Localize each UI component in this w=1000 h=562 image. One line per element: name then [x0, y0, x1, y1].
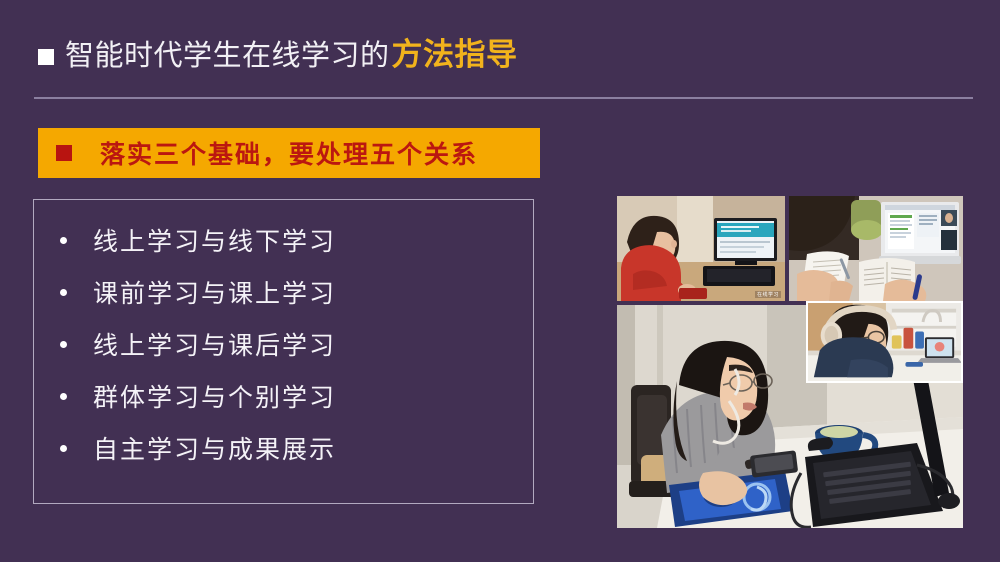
- page-title: 智能时代学生在线学习的方法指导: [38, 38, 518, 74]
- title-accent-text: 方法指导: [392, 37, 518, 73]
- bullet-content-box: 线上学习与线下学习 课前学习与课上学习 线上学习与课后学习 群体学习与个别学习 …: [33, 199, 534, 504]
- section-banner: 落实三个基础，要处理五个关系: [38, 128, 540, 178]
- bullet-list: 线上学习与线下学习 课前学习与课上学习 线上学习与课后学习 群体学习与个别学习 …: [60, 222, 533, 466]
- photo-caption: 在线学习: [755, 291, 781, 298]
- list-item: 线上学习与课后学习: [60, 326, 533, 362]
- list-item-label: 线上学习与线下学习: [93, 222, 336, 258]
- bullet-dot-icon: [60, 237, 67, 244]
- title-plain-text: 智能时代学生在线学习的: [65, 38, 390, 72]
- slide-root: 智能时代学生在线学习的方法指导 落实三个基础，要处理五个关系 线上学习与线下学习…: [0, 0, 1000, 562]
- title-square-bullet-icon: [38, 49, 54, 65]
- list-item-label: 群体学习与个别学习: [93, 378, 336, 414]
- banner-label: 落实三个基础，要处理五个关系: [100, 135, 478, 171]
- bullet-dot-icon: [60, 393, 67, 400]
- list-item: 线上学习与线下学习: [60, 222, 533, 258]
- photo-collage: 在线学习: [617, 196, 963, 528]
- list-item: 群体学习与个别学习: [60, 378, 533, 414]
- title-divider: [34, 97, 973, 99]
- title-text-wrapper: 智能时代学生在线学习的方法指导: [65, 38, 518, 74]
- photo-boy-with-headphones-inset: [806, 301, 963, 383]
- bullet-dot-icon: [60, 289, 67, 296]
- list-item-label: 线上学习与课后学习: [93, 326, 336, 362]
- list-item-label: 课前学习与课上学习: [93, 274, 336, 310]
- photo-boy-at-desktop: 在线学习: [617, 196, 785, 301]
- list-item: 自主学习与成果展示: [60, 430, 533, 466]
- list-item: 课前学习与课上学习: [60, 274, 533, 310]
- list-item-label: 自主学习与成果展示: [93, 430, 336, 466]
- photo-hands-writing-with-laptop: [789, 196, 963, 301]
- bullet-dot-icon: [60, 445, 67, 452]
- banner-square-bullet-icon: [56, 145, 72, 161]
- bullet-dot-icon: [60, 341, 67, 348]
